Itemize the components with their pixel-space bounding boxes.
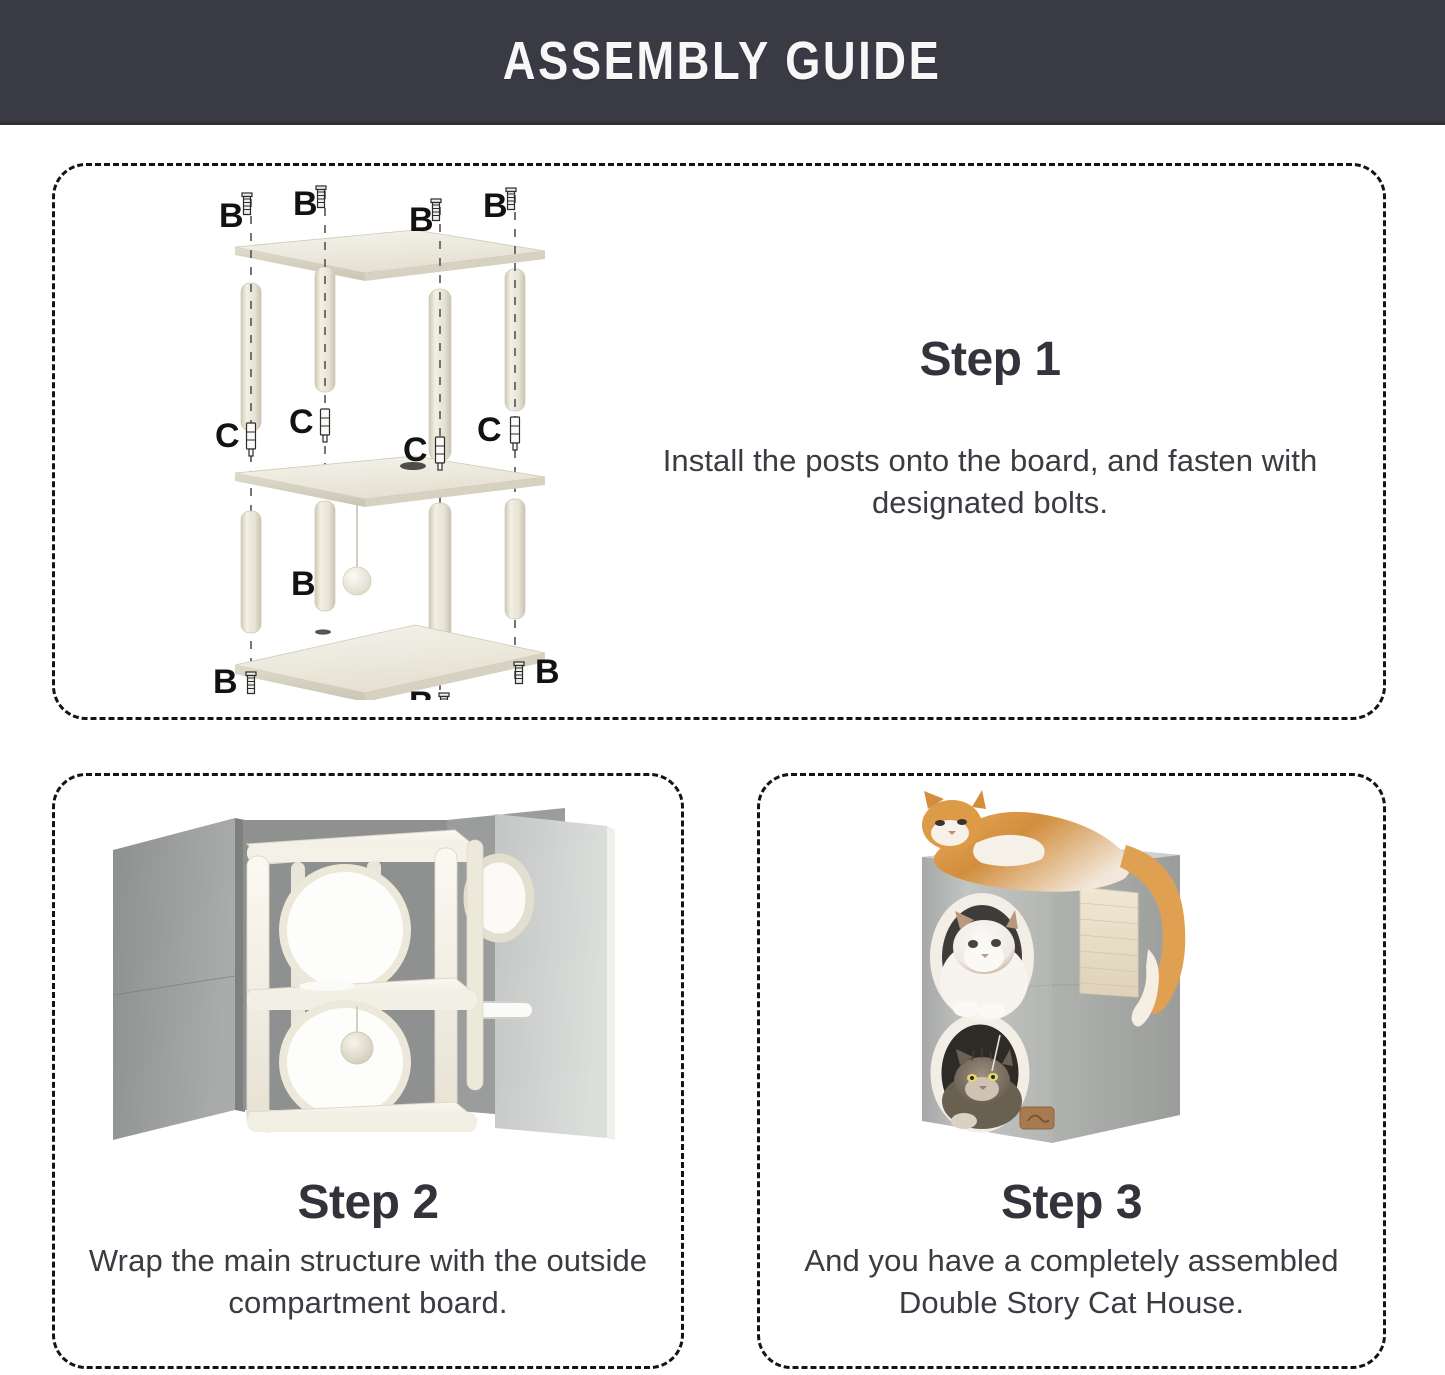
part-label-c: C — [403, 431, 428, 469]
header-bar: ASSEMBLY GUIDE — [0, 0, 1445, 122]
board-hole — [315, 629, 331, 634]
step-3-body: And you have a completely assembled Doub… — [772, 1240, 1371, 1324]
bottom-board — [235, 625, 545, 700]
step-3-illustration — [880, 785, 1310, 1170]
part-label-b: B — [409, 201, 434, 239]
part-label-b: B — [213, 663, 238, 700]
felt-panel-left — [113, 818, 245, 1140]
part-label-b: B — [409, 685, 434, 700]
step-3-heading: Step 3 — [772, 1178, 1371, 1228]
step-1-body: Install the posts onto the board, and fa… — [640, 440, 1340, 524]
step-2-illustration — [95, 790, 625, 1170]
step-2-body: Wrap the main structure with the outside… — [70, 1240, 666, 1324]
part-label-c: C — [477, 411, 502, 449]
part-label-b: B — [535, 653, 560, 691]
brand-tag — [1020, 1107, 1054, 1129]
page-title: ASSEMBLY GUIDE — [503, 34, 942, 88]
step-3-text-block: Step 3 And you have a completely assembl… — [772, 1178, 1371, 1324]
step-2-heading: Step 2 — [70, 1178, 666, 1228]
screw-bolt-icons-top — [242, 186, 516, 221]
step-2-text-block: Step 2 Wrap the main structure with the … — [70, 1178, 666, 1324]
lower-oval-opening — [283, 1004, 407, 1120]
part-label-b: B — [291, 565, 316, 603]
bolt-label-group-top: B B B B — [219, 185, 508, 239]
lower-posts — [241, 499, 525, 651]
part-label-c: C — [289, 403, 314, 441]
step-1-illustration: B B B B — [205, 185, 575, 700]
step-1-heading: Step 1 — [640, 335, 1340, 385]
sisal-scratch-pad — [1080, 887, 1138, 997]
hanging-pom-ball-toy — [343, 503, 371, 595]
upper-oval-opening — [283, 868, 407, 992]
middle-board — [235, 456, 545, 507]
header-underline — [0, 122, 1445, 125]
part-label-b: B — [293, 185, 318, 223]
part-label-b: B — [219, 197, 244, 235]
part-label-c: C — [215, 417, 240, 455]
step-1-text-block: Step 1 Install the posts onto the board,… — [640, 335, 1340, 524]
top-board — [235, 230, 545, 281]
assembly-guide-page: ASSEMBLY GUIDE — [0, 0, 1445, 1375]
part-label-b: B — [483, 187, 508, 225]
shelf-hole — [299, 981, 355, 991]
